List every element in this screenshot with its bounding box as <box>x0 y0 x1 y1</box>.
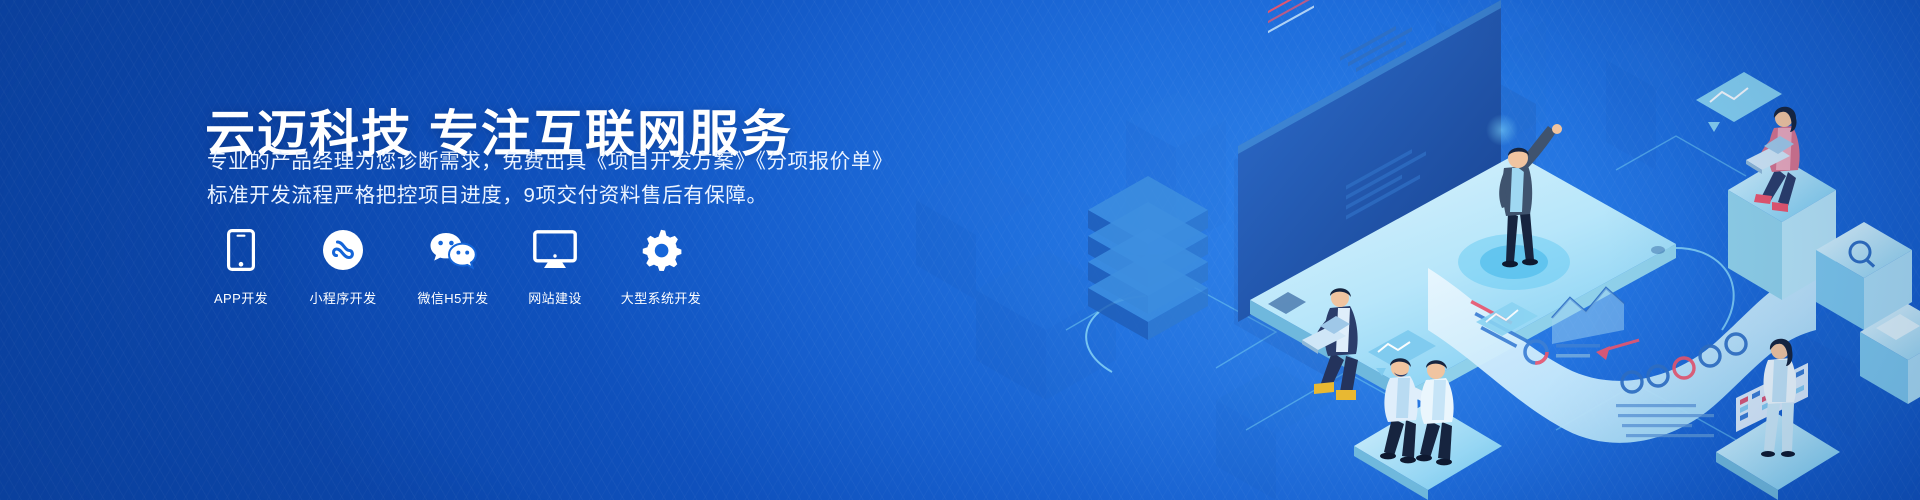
service-item-app[interactable]: APP开发 <box>205 228 277 307</box>
service-label: 大型系统开发 <box>621 288 701 307</box>
subtitle-line-1: 专业的产品经理为您诊断需求，免费出具《项目开发方案》《分项报价单》 <box>207 145 907 179</box>
hero-banner: 云迈科技 专注互联网服务 专业的产品经理为您诊断需求，免费出具《项目开发方案》《… <box>0 0 1920 500</box>
mobile-phone-icon <box>227 228 255 272</box>
service-label: APP开发 <box>214 288 268 307</box>
service-item-website[interactable]: 网站建设 <box>519 228 591 307</box>
banner-subtitle: 专业的产品经理为您诊断需求，免费出具《项目开发方案》《分项报价单》 标准开发流程… <box>207 145 907 213</box>
banner-content: 云迈科技 专注互联网服务 专业的产品经理为您诊断需求，免费出具《项目开发方案》《… <box>205 0 965 500</box>
service-item-wechat-h5[interactable]: 微信H5开发 <box>409 228 497 307</box>
service-list: APP开发 小程序开发 <box>205 228 709 307</box>
wechat-icon <box>429 228 477 272</box>
gear-icon <box>640 228 682 272</box>
service-item-mini-program[interactable]: 小程序开发 <box>299 228 387 307</box>
service-label: 网站建设 <box>528 288 582 307</box>
mini-program-icon <box>322 228 364 272</box>
service-label: 微信H5开发 <box>417 288 488 307</box>
service-label: 小程序开发 <box>309 288 376 307</box>
service-item-large-system[interactable]: 大型系统开发 <box>613 228 709 307</box>
monitor-icon <box>533 228 577 272</box>
isometric-tech-illustration <box>910 0 1920 500</box>
subtitle-line-2: 标准开发流程严格把控项目进度，9项交付资料售后有保障。 <box>207 179 907 213</box>
